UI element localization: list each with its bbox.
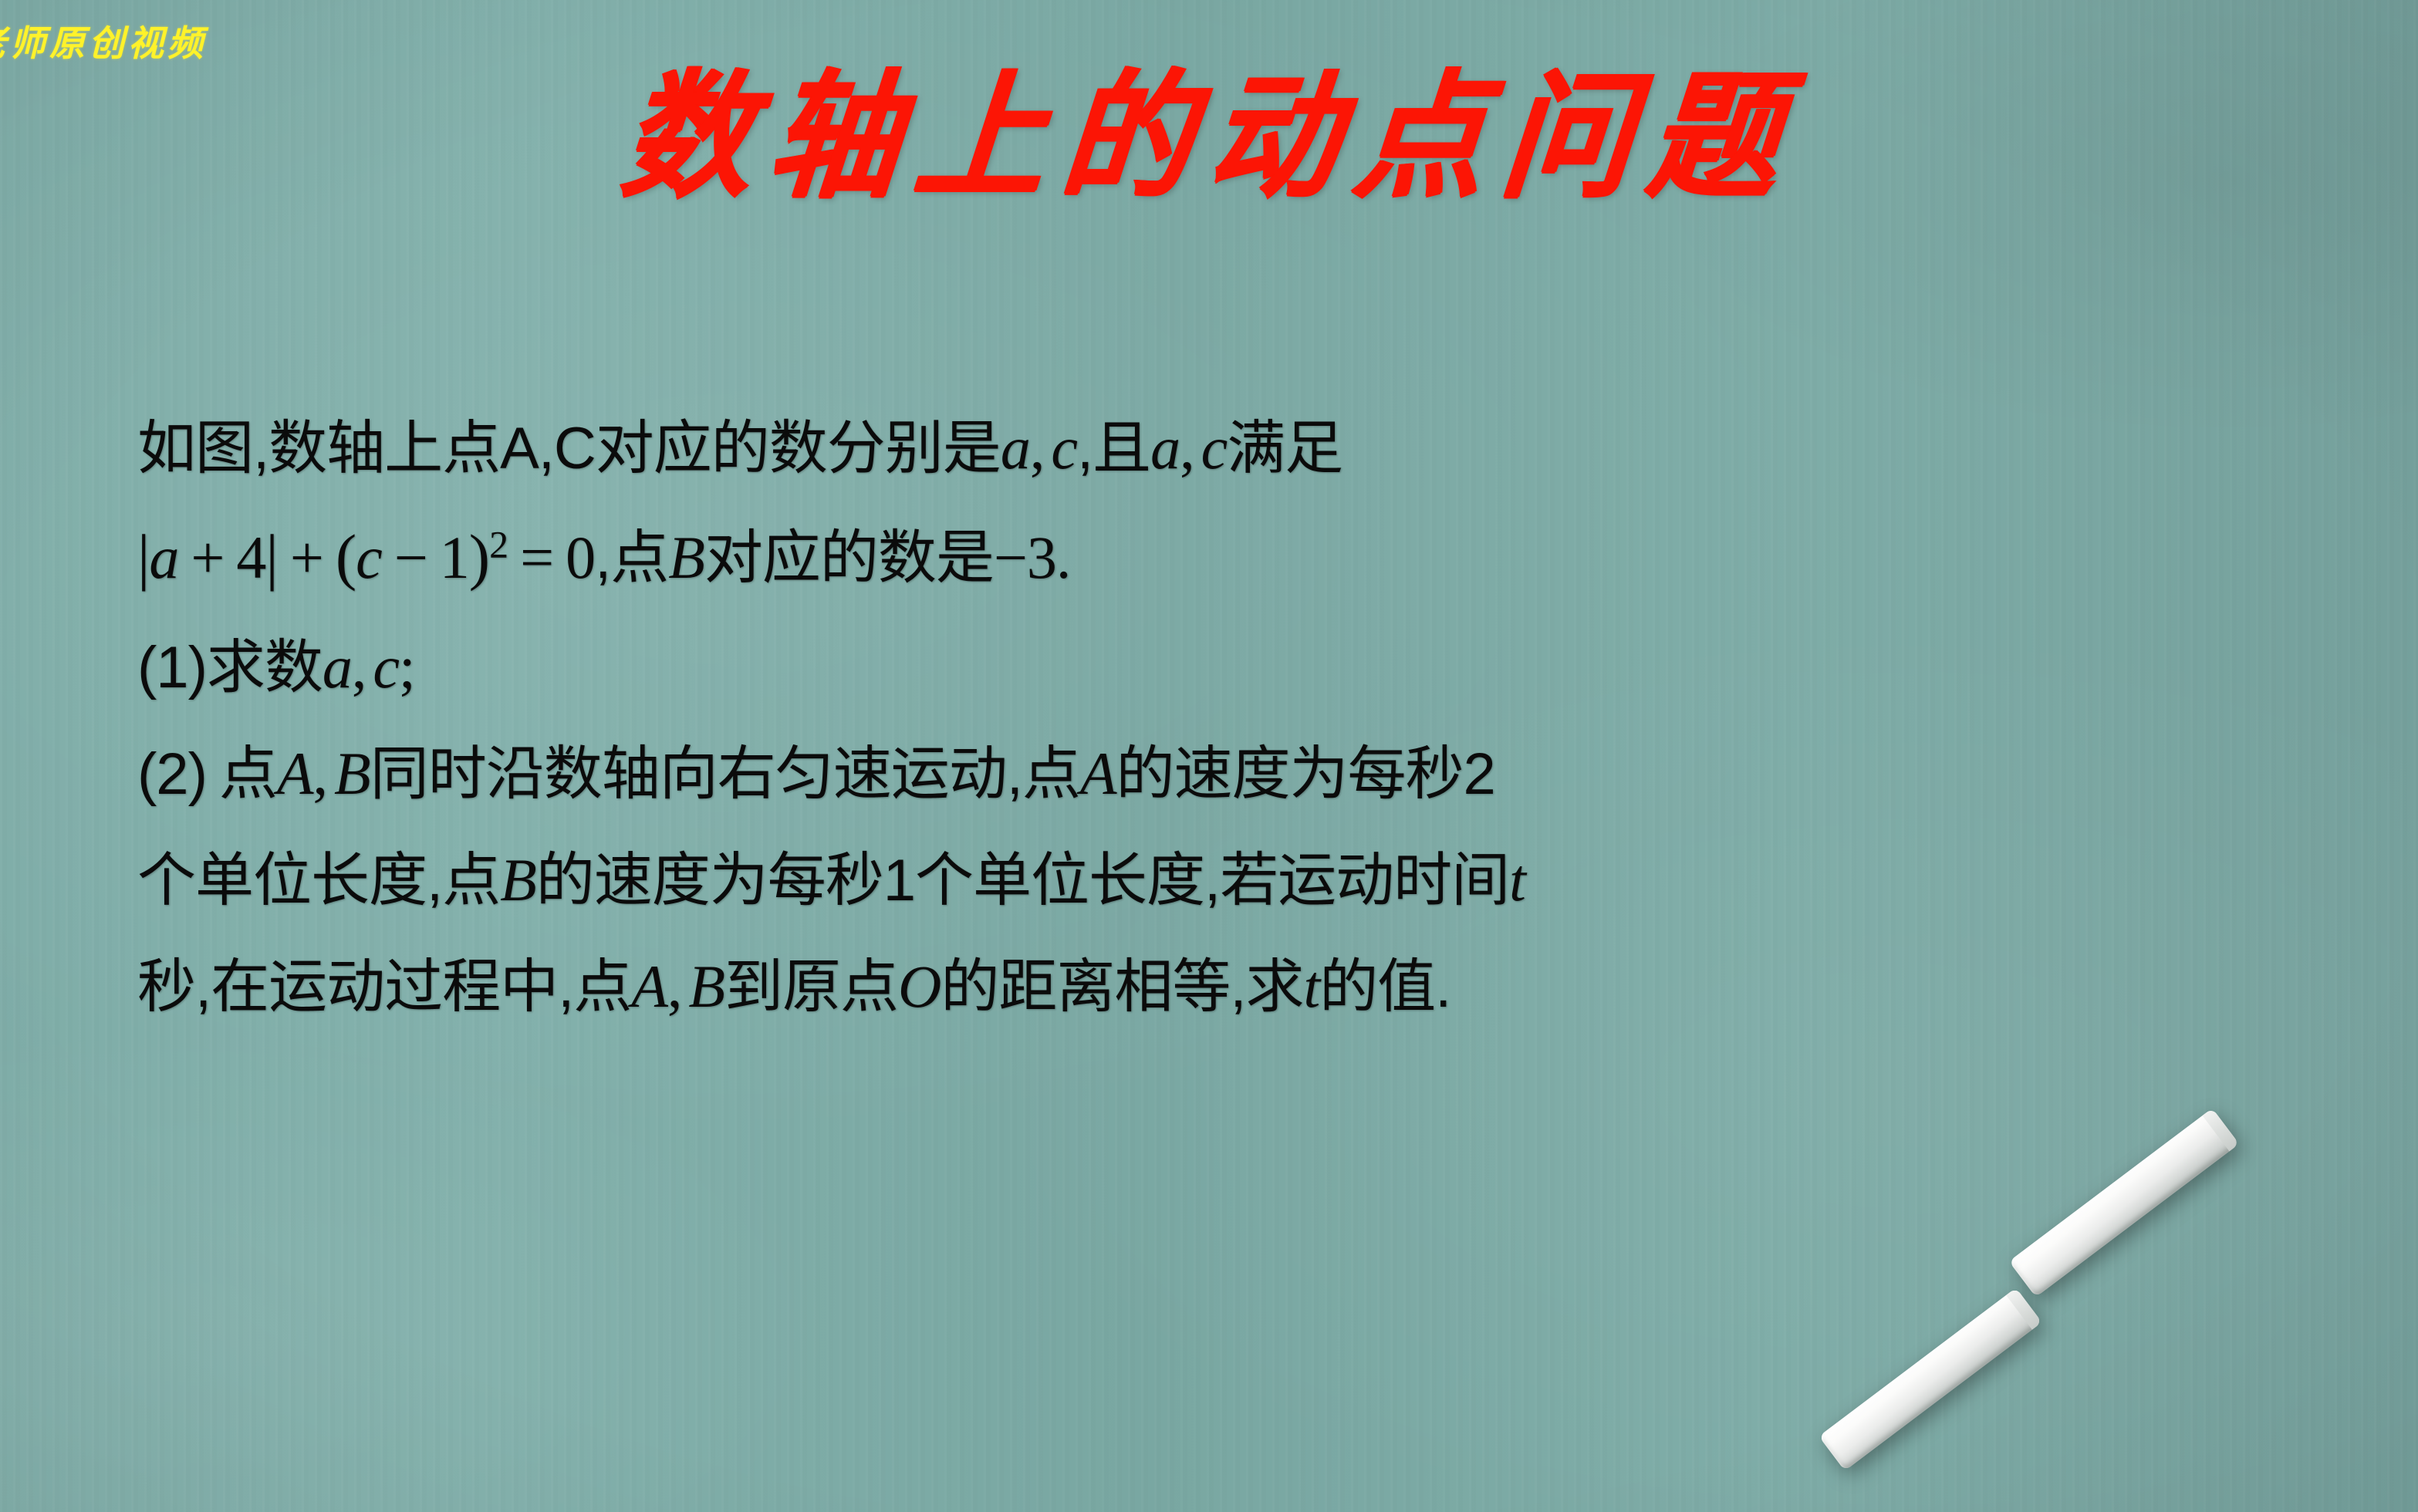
line1-part3: 满足 (1227, 416, 1342, 481)
equation-paren-open: ( (336, 521, 356, 592)
watermark-text: 老师原创视频 (0, 15, 207, 66)
page-title-text: 数轴上的动点问题 (616, 69, 1802, 207)
line6-var-B: B (688, 953, 724, 1020)
line6-var-t: t (1304, 953, 1320, 1020)
line4-var-A2: A (1080, 740, 1116, 807)
line2-tail-1: ,点 (595, 525, 668, 591)
line1-comma-1: , (1030, 414, 1045, 481)
line6-var-A: A (631, 953, 667, 1020)
line4-comma-1: , (313, 740, 328, 807)
line6-part4: 的值. (1319, 954, 1450, 1020)
line4-var-B: B (334, 740, 370, 807)
chalk-stick-upper-end (2203, 1109, 2240, 1152)
line1-var-a2: a (1150, 414, 1180, 481)
line3-comma: , (352, 633, 366, 700)
line2-period: . (1056, 524, 1071, 591)
equation-equals: = (520, 524, 553, 591)
problem-line-3: (1)求数a,c; (137, 626, 2282, 708)
line4-label: (2) (137, 741, 207, 807)
line6-part1: 秒,在运动过程中,点 (137, 954, 631, 1020)
equation-num-1: 1 (440, 524, 469, 591)
line4-part3: 的速度为每秒2 (1116, 741, 1494, 807)
line6-part3: 的距离相等,求 (941, 954, 1303, 1020)
line1-comma-2: , (1180, 414, 1194, 481)
line6-comma-1: , (667, 953, 682, 1020)
problem-line-5: 个单位长度,点B的速度为每秒1个单位长度,若运动时间t (137, 839, 2282, 921)
equation-var-c: c (356, 524, 382, 591)
line3-var-c: c (373, 633, 399, 700)
equation-exponent: 2 (489, 523, 508, 566)
line2-tail-2: 对应的数是 (704, 525, 994, 591)
problem-statement: 如图,数轴上点A,C对应的数分别是a,c,且a,c满足 |a+4|+(c−1)2… (137, 407, 2282, 1052)
line1-var-a: a (1001, 414, 1030, 481)
chalk-stick-lower (1819, 1288, 2041, 1470)
equation-abs-open: | (137, 521, 149, 592)
problem-line-1: 如图,数轴上点A,C对应的数分别是a,c,且a,c满足 (137, 407, 2282, 489)
line1-part2: ,且 (1077, 416, 1150, 481)
equation-minus: − (394, 524, 427, 591)
equation-plus-2: + (290, 524, 323, 591)
line2-var-B: B (668, 524, 704, 591)
page-title: 数轴上的动点问题 (0, 73, 2418, 203)
line5-part2: 的速度为每秒1个单位长度,若运动时间 (536, 848, 1509, 913)
line3-var-a: a (323, 633, 352, 700)
problem-line-6: 秒,在运动过程中,点A,B到原点O的距离相等,求t的值. (137, 946, 2282, 1028)
problem-line-4: (2)点A,B同时沿数轴向右匀速运动,点A的速度为每秒2 (137, 733, 2282, 815)
problem-line-2: |a+4|+(c−1)2=0,点B对应的数是−3. (137, 514, 2282, 602)
line6-part2: 到原点 (724, 954, 898, 1020)
line5-var-B: B (500, 846, 536, 913)
line2-value: −3 (994, 524, 1056, 591)
line3-semicolon: ; (399, 633, 415, 700)
line5-var-t: t (1509, 846, 1525, 913)
line4-part1: 点 (219, 741, 277, 807)
line1-var-c: c (1051, 414, 1077, 481)
line4-part2: 同时沿数轴向右匀速运动,点 (370, 741, 1080, 807)
chalkboard-background: 老师原创视频 数轴上的动点问题 如图,数轴上点A,C对应的数分别是a,c,且a,… (0, 0, 2418, 1512)
equation-var-a: a (149, 524, 178, 591)
equation-plus-1: + (191, 524, 224, 591)
line3-label: (1)求数 (137, 635, 323, 700)
chalk-stick-upper (2009, 1109, 2239, 1298)
line1-var-c2: c (1201, 414, 1228, 481)
equation-paren-close: ) (469, 521, 489, 592)
equation-abs-close: | (265, 521, 277, 592)
equation-num-4: 4 (236, 524, 265, 591)
equation-num-0: 0 (566, 524, 595, 591)
line1-part1: 如图,数轴上点A,C对应的数分别是 (137, 416, 1001, 481)
line6-var-O: O (898, 953, 941, 1020)
line4-var-A: A (277, 740, 313, 807)
line5-part1: 个单位长度,点 (137, 848, 500, 913)
